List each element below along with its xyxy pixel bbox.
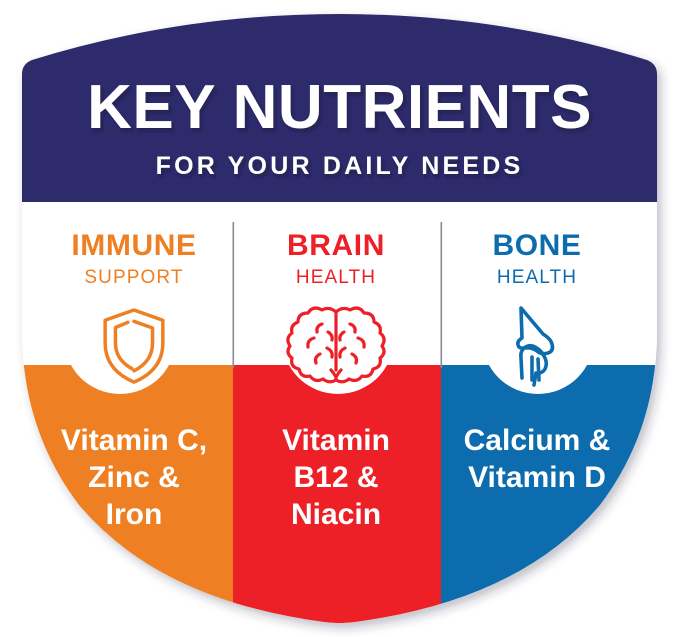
column-title-bone: BONE: [492, 229, 581, 262]
band-line-bone-1: Calcium &: [464, 424, 611, 457]
band-line-immune-1: Vitamin C,: [61, 424, 207, 457]
band-line-immune-3: Iron: [106, 498, 163, 531]
header-text-group: KEY NUTRIENTS FOR YOUR DAILY NEEDS: [87, 73, 592, 180]
band-line-brain-3: Niacin: [291, 498, 381, 531]
page-subtitle: FOR YOUR DAILY NEEDS: [156, 152, 524, 180]
notch-brain: [282, 282, 394, 394]
band-line-brain-1: Vitamin: [282, 424, 390, 457]
notch-immune: [64, 282, 176, 394]
band-line-brain-2: B12 &: [293, 461, 378, 494]
band-bone: [441, 365, 679, 637]
band-line-immune-2: Zinc &: [88, 461, 180, 494]
column-subtitle-immune: SUPPORT: [84, 267, 183, 288]
column-subtitle-brain: HEALTH: [296, 267, 376, 288]
band-line-bone-2: Vitamin D: [468, 461, 606, 494]
shield-graphic: KEY NUTRIENTS FOR YOUR DAILY NEEDS IMMUN…: [0, 0, 679, 637]
column-title-immune: IMMUNE: [71, 229, 196, 262]
divider-2: [441, 222, 443, 368]
column-subtitle-bone: HEALTH: [497, 267, 577, 288]
key-nutrients-infographic: KEY NUTRIENTS FOR YOUR DAILY NEEDS IMMUN…: [0, 0, 679, 637]
divider-1: [233, 222, 235, 368]
page-title: KEY NUTRIENTS: [87, 73, 592, 142]
column-title-brain: BRAIN: [287, 229, 385, 262]
